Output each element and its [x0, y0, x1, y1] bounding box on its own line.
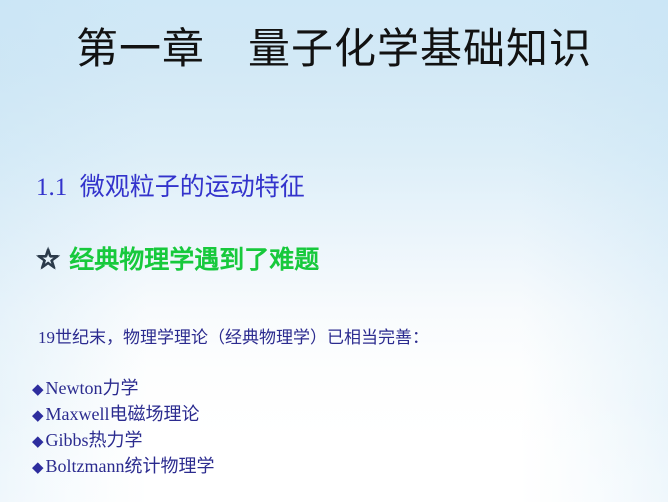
list-item-label: Newton力学	[46, 375, 139, 401]
diamond-bullet-icon: ◆	[32, 402, 44, 428]
list-item-label: Gibbs热力学	[46, 427, 143, 453]
section-heading: 1.1 微观粒子的运动特征	[36, 172, 668, 204]
slide-canvas: 第一章 量子化学基础知识 1.1 微观粒子的运动特征 ☆ 经典物理学遇到了难题 …	[0, 0, 668, 502]
list-item-label: Boltzmann统计物理学	[46, 453, 215, 479]
diamond-bullet-icon: ◆	[32, 428, 44, 454]
slide-title: 第一章 量子化学基础知识	[0, 22, 668, 76]
star-outline-icon: ☆	[36, 243, 60, 277]
star-subheading-label: 经典物理学遇到了难题	[69, 243, 319, 277]
diamond-bullet-icon: ◆	[32, 454, 44, 480]
list-item: ◆ Gibbs热力学	[32, 427, 668, 453]
theory-bullet-list: ◆ Newton力学 ◆ Maxwell电磁场理论 ◆ Gibbs热力学 ◆ B…	[32, 375, 668, 479]
list-item: ◆ Boltzmann统计物理学	[32, 453, 668, 479]
lead-in-text: 19世纪末，物理学理论（经典物理学）已相当完善：	[38, 326, 668, 350]
diamond-bullet-icon: ◆	[32, 376, 44, 402]
list-item: ◆ Newton力学	[32, 375, 668, 401]
list-item-label: Maxwell电磁场理论	[46, 401, 200, 427]
star-subheading-row: ☆ 经典物理学遇到了难题	[36, 243, 668, 277]
list-item: ◆ Maxwell电磁场理论	[32, 401, 668, 427]
